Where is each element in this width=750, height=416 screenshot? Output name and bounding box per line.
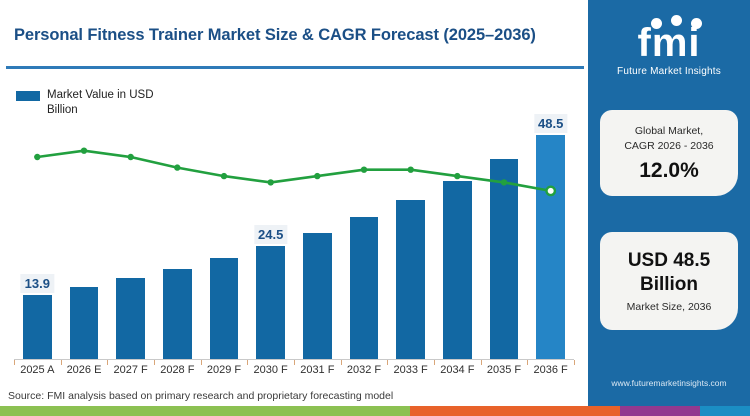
fmi-logo: fmi Future Market Insights bbox=[588, 6, 750, 92]
x-label-2033-f: 2033 F bbox=[394, 364, 428, 376]
x-label-2035-f: 2035 F bbox=[487, 364, 521, 376]
cagr-marker-2029-f bbox=[221, 173, 227, 179]
website-url: www.futuremarketinsights.com bbox=[588, 378, 750, 388]
logo-wordmark: fmi bbox=[638, 22, 701, 64]
cagr-line-series bbox=[14, 120, 574, 360]
cagr-card-value: 12.0% bbox=[639, 158, 699, 183]
x-axis-line bbox=[14, 359, 574, 360]
x-label-2032-f: 2032 F bbox=[347, 364, 381, 376]
chart-legend: Market Value in USD Billion bbox=[16, 88, 177, 118]
x-label-2036-f: 2036 F bbox=[534, 364, 568, 376]
x-label-2029-f: 2029 F bbox=[207, 364, 241, 376]
title-divider bbox=[6, 66, 584, 69]
logo-dot-1 bbox=[651, 18, 662, 29]
cagr-marker-2036-f bbox=[547, 187, 555, 195]
cagr-marker-2026-e bbox=[81, 148, 87, 154]
cagr-card-line1: Global Market, bbox=[635, 124, 703, 139]
x-label-2026-e: 2026 E bbox=[67, 364, 102, 376]
cagr-marker-2033-f bbox=[408, 167, 414, 173]
cagr-card: Global Market, CAGR 2026 - 2036 12.0% bbox=[600, 110, 738, 196]
strip-segment-3 bbox=[700, 406, 750, 416]
market-size-caption: Market Size, 2036 bbox=[627, 301, 712, 313]
x-label-2028-f: 2028 F bbox=[160, 364, 194, 376]
bar-label-2030-f: 24.5 bbox=[254, 225, 287, 244]
x-axis-labels: 2025 A2026 E2027 F2028 F2029 F2030 F2031… bbox=[14, 364, 574, 382]
cagr-marker-2032-f bbox=[361, 167, 367, 173]
x-label-2034-f: 2034 F bbox=[440, 364, 474, 376]
cagr-marker-2027-f bbox=[128, 154, 134, 160]
legend-swatch-market-value bbox=[16, 91, 40, 101]
strip-segment-1 bbox=[410, 406, 620, 416]
x-label-2025-a: 2025 A bbox=[20, 364, 54, 376]
logo-subtitle: Future Market Insights bbox=[617, 66, 721, 77]
logo-dot-2 bbox=[671, 15, 682, 26]
plot-area: 13.924.548.5 bbox=[14, 120, 574, 360]
tick-end bbox=[574, 360, 575, 365]
logo-dot-3 bbox=[691, 18, 702, 29]
cagr-card-line2: CAGR 2026 - 2036 bbox=[624, 139, 713, 154]
bar-label-2025-a: 13.9 bbox=[21, 274, 54, 293]
cagr-line-path bbox=[37, 151, 550, 191]
cagr-marker-2030-f bbox=[268, 179, 274, 185]
bar-label-2036-f: 48.5 bbox=[534, 114, 567, 133]
legend-label-market-value: Market Value in USD Billion bbox=[47, 88, 177, 118]
cagr-marker-2028-f bbox=[174, 164, 180, 170]
cagr-marker-2034-f bbox=[454, 173, 460, 179]
market-size-value-line1: USD 48.5 bbox=[628, 249, 710, 273]
x-label-2030-f: 2030 F bbox=[254, 364, 288, 376]
strip-segment-0 bbox=[0, 406, 410, 416]
chart-panel: Personal Fitness Trainer Market Size & C… bbox=[0, 0, 588, 416]
strip-segment-2 bbox=[620, 406, 700, 416]
x-label-2031-f: 2031 F bbox=[300, 364, 334, 376]
market-size-value-line2: Billion bbox=[640, 273, 698, 297]
page-title: Personal Fitness Trainer Market Size & C… bbox=[14, 26, 574, 45]
cagr-marker-2031-f bbox=[314, 173, 320, 179]
cagr-marker-2035-f bbox=[501, 179, 507, 185]
source-note: Source: FMI analysis based on primary re… bbox=[8, 390, 393, 402]
market-size-card: USD 48.5 Billion Market Size, 2036 bbox=[600, 232, 738, 330]
chart-infographic: Personal Fitness Trainer Market Size & C… bbox=[0, 0, 750, 416]
bottom-color-strip bbox=[0, 406, 750, 416]
cagr-marker-2025-a bbox=[34, 154, 40, 160]
x-label-2027-f: 2027 F bbox=[114, 364, 148, 376]
sidebar: fmi Future Market Insights Global Market… bbox=[588, 0, 750, 406]
